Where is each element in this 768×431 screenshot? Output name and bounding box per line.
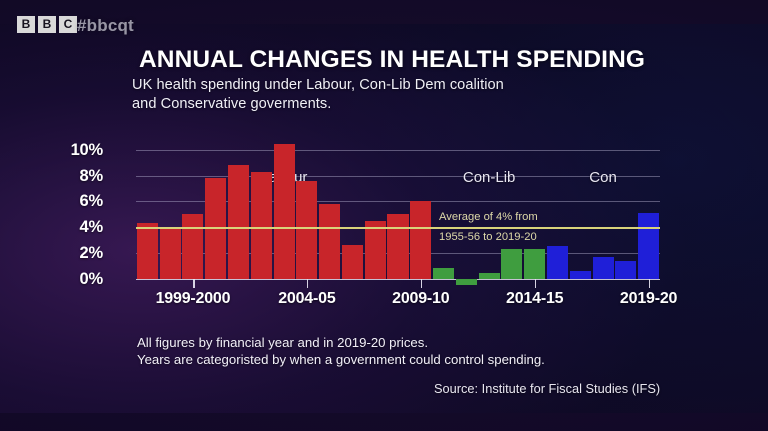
y-axis-tick-label: 2% [43, 245, 103, 262]
bbc-logo-letter: B [38, 16, 56, 33]
bar [274, 144, 295, 279]
x-axis-tick-label: 2019-20 [620, 290, 677, 307]
x-axis-tick-label: 2004-05 [278, 290, 335, 307]
bar [319, 204, 340, 279]
x-axis-tick-label: 2009-10 [392, 290, 449, 307]
bar [296, 181, 317, 279]
bar [182, 214, 203, 278]
bar [524, 249, 545, 279]
bar [593, 257, 614, 279]
bar [410, 201, 431, 278]
bar [501, 249, 522, 279]
bar [547, 246, 568, 278]
y-axis-tick-label: 4% [43, 219, 103, 236]
bar [479, 273, 500, 278]
bar [570, 271, 591, 279]
x-axis-tick [649, 279, 651, 288]
era-label-con: Con [589, 170, 617, 186]
footnote-line-1: All figures by financial year and in 201… [137, 334, 545, 351]
bar [433, 268, 454, 278]
chart-footnotes: All figures by financial year and in 201… [137, 334, 545, 368]
chart-subtitle-line-1: UK health spending under Labour, Con-Lib… [132, 76, 504, 95]
gridline [136, 176, 660, 177]
bbc-logo: B B C [17, 16, 77, 33]
zero-axis-line [136, 279, 660, 281]
chart-subtitle: UK health spending under Labour, Con-Lib… [132, 76, 504, 113]
gridline [136, 150, 660, 151]
footnote-line-2: Years are categoristed by when a governm… [137, 351, 545, 368]
plot-area [136, 132, 660, 294]
bbc-logo-letter: B [17, 16, 35, 33]
chart-source: Source: Institute for Fiscal Studies (IF… [434, 381, 660, 397]
average-annotation-line-1: Average of 4% from [439, 210, 538, 226]
bar [387, 214, 408, 278]
average-annotation-line-2: 1955-56 to 2019-20 [439, 230, 537, 246]
x-axis-tick-label: 1999-2000 [156, 290, 231, 307]
era-label-con-lib: Con-Lib [463, 170, 516, 186]
x-axis-tick [421, 279, 423, 288]
bar [160, 228, 181, 278]
bar [638, 213, 659, 279]
x-axis-tick [535, 279, 537, 288]
chart-title: ANNUAL CHANGES IN HEALTH SPENDING [139, 46, 645, 73]
x-axis-tick [307, 279, 309, 288]
average-reference-line [136, 227, 660, 229]
x-axis-tick [193, 279, 195, 288]
chart-subtitle-line-2: and Conservative goverments. [132, 95, 504, 114]
y-axis-tick-label: 8% [43, 168, 103, 185]
bar [137, 223, 158, 278]
bbc-logo-letter: C [59, 16, 77, 33]
bar [228, 165, 249, 278]
bar [456, 279, 477, 285]
bar [251, 172, 272, 279]
y-axis-tick-label: 6% [43, 193, 103, 210]
x-axis-tick-label: 2014-15 [506, 290, 563, 307]
y-axis-tick-label: 10% [43, 142, 103, 159]
programme-hashtag: #bbcqt [77, 17, 134, 35]
y-axis-tick-label: 0% [43, 271, 103, 288]
bar [365, 221, 386, 279]
bar [615, 261, 636, 279]
bar [342, 245, 363, 278]
